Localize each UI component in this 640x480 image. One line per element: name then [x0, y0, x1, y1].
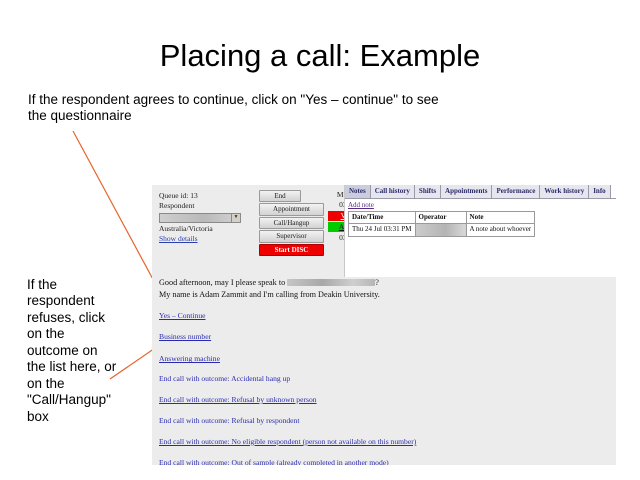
tab-appointments[interactable]: Appointments — [441, 185, 492, 198]
cell-operator-redacted — [415, 224, 466, 236]
callout-continue-instruction: If the respondent agrees to continue, cl… — [28, 92, 458, 125]
supervisor-button[interactable]: Supervisor — [259, 230, 324, 242]
tab-info[interactable]: Info — [589, 185, 610, 198]
script-line-1-text: Good afternoon, may I please speak to — [159, 278, 285, 287]
cati-application-screenshot: Queue id: 13 Respondent ▼ Australia/Vict… — [152, 185, 616, 465]
tab-strip: Notes Call history Shifts Appointments P… — [345, 185, 616, 199]
timezone-label: Australia/Victoria — [159, 224, 254, 234]
tab-notes[interactable]: Notes — [345, 185, 371, 198]
call-script-area: Good afternoon, may I please speak to ? … — [159, 277, 609, 465]
show-details-link[interactable]: Show details — [159, 234, 254, 244]
cell-datetime: Thu 24 Jul 03:31 PM — [349, 224, 416, 236]
tab-performance[interactable]: Performance — [492, 185, 540, 198]
respondent-select[interactable]: ▼ — [159, 213, 241, 223]
tab-work-history[interactable]: Work history — [540, 185, 589, 198]
operator-tab-panel: Notes Call history Shifts Appointments P… — [344, 185, 616, 277]
callout-refusal-instruction: If the respondent refuses, click on the … — [27, 277, 119, 425]
notes-table: Date/Time Operator Note Thu 24 Jul 03:31… — [348, 211, 535, 237]
column-header-datetime: Date/Time — [349, 212, 416, 224]
queue-info-block: Queue id: 13 Respondent ▼ Australia/Vict… — [159, 191, 254, 244]
link-outcome-no-eligible-respondent[interactable]: End call with outcome: No eligible respo… — [159, 437, 609, 447]
link-outcome-accidental-hangup[interactable]: End call with outcome: Accidental hang u… — [159, 374, 609, 384]
link-outcome-refusal-respondent[interactable]: End call with outcome: Refusal by respon… — [159, 416, 609, 426]
tab-shifts[interactable]: Shifts — [415, 185, 441, 198]
respondent-label: Respondent — [159, 201, 254, 211]
cell-note: A note about whoever — [466, 224, 535, 236]
call-hangup-button[interactable]: Call/Hangup — [259, 217, 324, 229]
redacted-name — [287, 279, 375, 286]
link-business-number[interactable]: Business number — [159, 332, 609, 342]
quick-outcome-links: Yes – Continue Business number Answering… — [159, 311, 609, 365]
chevron-down-icon[interactable]: ▼ — [231, 214, 240, 222]
column-header-operator: Operator — [415, 212, 466, 224]
page-title: Placing a call: Example — [0, 38, 640, 74]
start-disc-button[interactable]: Start DISC — [259, 244, 324, 256]
link-yes-continue[interactable]: Yes – Continue — [159, 311, 609, 321]
end-call-outcome-links: End call with outcome: Accidental hang u… — [159, 374, 609, 465]
call-action-buttons: End Appointment Call/Hangup Supervisor S… — [259, 190, 324, 257]
end-button[interactable]: End — [259, 190, 301, 202]
tab-call-history[interactable]: Call history — [371, 185, 415, 198]
appointment-button[interactable]: Appointment — [259, 203, 324, 215]
link-outcome-refusal-unknown-person[interactable]: End call with outcome: Refusal by unknow… — [159, 395, 609, 405]
script-line-1-suffix: ? — [375, 278, 379, 287]
arrow-to-yes-continue — [73, 131, 162, 296]
script-line-2: My name is Adam Zammit and I'm calling f… — [159, 289, 609, 301]
link-outcome-out-of-sample[interactable]: End call with outcome: Out of sample (al… — [159, 458, 609, 465]
table-header-row: Date/Time Operator Note — [349, 212, 535, 224]
script-line-1: Good afternoon, may I please speak to ? — [159, 277, 609, 289]
call-control-bar: Queue id: 13 Respondent ▼ Australia/Vict… — [152, 185, 616, 253]
add-note-link[interactable]: Add note — [348, 201, 616, 209]
table-row[interactable]: Thu 24 Jul 03:31 PM A note about whoever — [349, 224, 535, 236]
queue-id-label: Queue id: 13 — [159, 191, 254, 201]
column-header-note: Note — [466, 212, 535, 224]
link-answering-machine[interactable]: Answering machine — [159, 354, 609, 364]
